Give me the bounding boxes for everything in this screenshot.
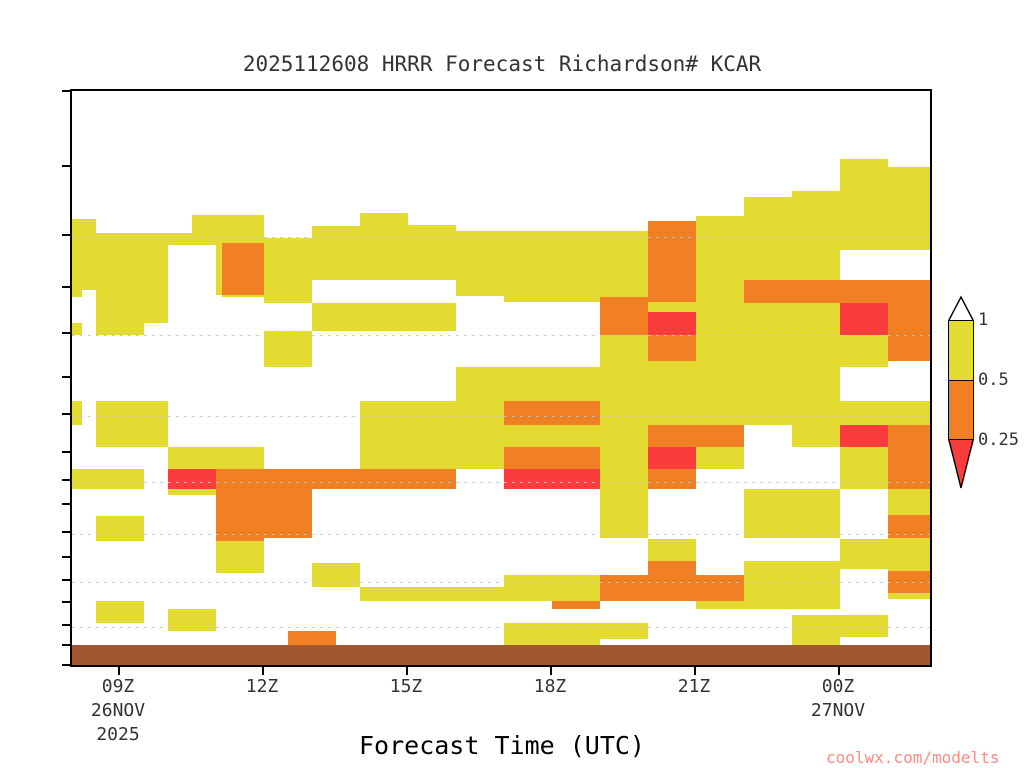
heatmap-cell (888, 447, 932, 469)
y-axis-tick-mark (62, 664, 71, 666)
heatmap-cell (744, 447, 792, 469)
heatmap-cell (168, 233, 192, 245)
heatmap-cell (312, 226, 360, 250)
heatmap-cell (648, 469, 696, 489)
y-axis-tick-mark (62, 556, 71, 558)
y-axis-tick-mark (62, 451, 71, 453)
heatmap-cell (360, 447, 408, 469)
y-axis-tick-mark (62, 413, 71, 415)
heatmap-cell (360, 213, 408, 250)
heatmap-cell (360, 280, 408, 303)
heatmap-cell (696, 335, 744, 367)
x-axis-tick-mark (406, 667, 408, 675)
y-axis-tick-mark (62, 624, 71, 626)
heatmap-cell (648, 221, 696, 250)
heatmap-cell (888, 425, 932, 447)
heatmap-cell (840, 615, 888, 637)
heatmap-cell (408, 303, 456, 331)
y-axis-tick-mark (62, 286, 71, 288)
heatmap-cell (744, 469, 792, 489)
heatmap-cell (456, 469, 504, 489)
heatmap-cell (264, 303, 312, 331)
heatmap-cell (648, 489, 696, 538)
heatmap-cell (600, 361, 648, 401)
heatmap-cell (72, 425, 96, 447)
heatmap-cell (888, 538, 932, 546)
heatmap-cell (600, 297, 648, 335)
heatmap-cell (264, 538, 312, 563)
heatmap-cell (696, 489, 744, 538)
heatmap-cell (552, 601, 600, 609)
gridline (72, 237, 930, 238)
heatmap-cell (456, 231, 504, 250)
heatmap-cell (264, 425, 312, 447)
heatmap-cell (504, 401, 552, 425)
heatmap-cell (792, 447, 840, 469)
heatmap-cell (222, 243, 264, 295)
x-axis-tick-label: 12Z (246, 676, 279, 697)
heatmap-cell (792, 335, 840, 367)
heatmap-cell (312, 469, 360, 489)
gridline (72, 627, 930, 628)
heatmap-cell (840, 367, 888, 401)
heatmap-cell (552, 469, 600, 489)
heatmap-cell (456, 587, 504, 601)
heatmap-cell (888, 250, 932, 280)
y-axis-tick-mark (62, 579, 71, 581)
heatmap-cell (840, 425, 888, 447)
colorbar: 1 0.5 0.25 (948, 320, 974, 440)
heatmap-cell (648, 361, 696, 401)
heatmap-cell (264, 295, 312, 303)
x-axis-tick-label: 09Z (102, 676, 135, 697)
heatmap-cell (72, 367, 96, 401)
heatmap-cell (792, 401, 840, 425)
heatmap-cell (168, 297, 264, 335)
heatmap-cell (96, 401, 168, 425)
heatmap-cell (840, 335, 888, 367)
heatmap-cell (888, 593, 932, 599)
heatmap-cell (744, 250, 792, 280)
x-axis-tick-mark (838, 667, 840, 675)
heatmap-cell (744, 425, 792, 447)
x-axis-tick-mark (550, 667, 552, 675)
heatmap-cell (408, 489, 456, 538)
heatmap-cell (648, 447, 696, 469)
heatmap-cell (552, 401, 600, 425)
y-axis-tick-mark (62, 531, 71, 533)
heatmap-cell (744, 489, 792, 515)
heatmap-cell (264, 331, 312, 367)
heatmap-cell (648, 302, 696, 312)
heatmap-cell (840, 447, 888, 469)
heatmap-cell (792, 303, 840, 335)
heatmap-cell (72, 447, 96, 469)
heatmap-cell (504, 331, 552, 367)
heatmap-cell (504, 489, 552, 538)
heatmap-cell (840, 191, 888, 250)
heatmap-cell (552, 367, 600, 401)
heatmap-cell (96, 335, 168, 367)
heatmap-cell (168, 401, 264, 425)
heatmap-cell (600, 469, 648, 489)
heatmap-cell (696, 280, 744, 303)
heatmap-cell (192, 215, 216, 245)
colorbar-seg-yellow (948, 320, 974, 380)
heatmap-cell (264, 469, 312, 489)
heatmap-cell (840, 250, 888, 280)
heatmap-cell (96, 245, 168, 297)
heatmap-cell (696, 250, 744, 280)
colorbar-top-arrow-outline (948, 297, 974, 320)
x-axis-tick-label: 18Z (534, 676, 567, 697)
heatmap-cell (360, 587, 408, 601)
heatmap-cell (792, 367, 840, 401)
heatmap-cell (264, 238, 312, 250)
heatmap-cell (504, 367, 552, 401)
heatmap-cell (792, 425, 840, 447)
heatmap-cell (552, 302, 600, 331)
heatmap-cell (96, 367, 144, 401)
heatmap-cell (552, 489, 600, 538)
heatmap-cell (456, 296, 504, 331)
heatmap-cell (360, 331, 408, 367)
heatmap-cell (792, 250, 840, 280)
heatmap-cell (840, 401, 888, 425)
heatmap-cell (264, 367, 312, 401)
heatmap-cell (744, 367, 792, 401)
y-axis-tick-mark (62, 90, 71, 92)
heatmap-cell (504, 575, 552, 601)
colorbar-bottom-arrow-outline (948, 440, 974, 489)
x-date-label-start: 26NOV (91, 700, 145, 721)
heatmap-cell (600, 335, 648, 361)
heatmap-cell (72, 335, 96, 367)
heatmap-cell (72, 244, 96, 290)
heatmap-cell (456, 331, 504, 367)
heatmap-cell (600, 489, 648, 538)
heatmap-cell (504, 302, 552, 331)
colorbar-label-05: 0.5 (978, 370, 1009, 390)
heatmap-cell (888, 489, 932, 515)
heatmap-cell (96, 233, 168, 245)
heatmap-cell (216, 541, 264, 563)
heatmap-cell (456, 367, 504, 401)
heatmap-cell (456, 425, 504, 447)
heatmap-cell (216, 489, 264, 538)
heatmap-cell (504, 231, 552, 250)
heatmap-cell (408, 280, 456, 303)
heatmap-cell (216, 245, 222, 295)
heatmap-cell (552, 447, 600, 469)
heatmap-cell (792, 575, 840, 609)
heatmap-cell (504, 425, 552, 447)
heatmap-cell (504, 469, 552, 489)
heatmap-cell (72, 219, 96, 244)
heatmap-cell (312, 280, 360, 303)
heatmap-cell (408, 331, 456, 367)
heatmap-cell (312, 563, 360, 587)
heatmap-cell (456, 401, 504, 425)
gridline (72, 482, 930, 483)
gridline (72, 416, 930, 417)
heatmap-cell (168, 335, 264, 367)
colorbar-label-025: 0.25 (978, 430, 1019, 450)
heatmap-cell (600, 250, 648, 302)
heatmap-cell (792, 615, 840, 637)
heatmap-cell (696, 447, 744, 469)
heatmap-cell (840, 489, 888, 515)
heatmap-cell (744, 561, 792, 575)
heatmap-cell (72, 297, 96, 323)
heatmap-cell (456, 250, 504, 296)
heatmap-cell (504, 447, 552, 469)
heatmap-cell (168, 425, 264, 447)
heatmap-cell (312, 425, 360, 447)
heatmap-cell (648, 250, 696, 302)
heatmap-cell (888, 280, 932, 303)
heatmap-cell (264, 447, 312, 469)
heatmap-cell (888, 469, 932, 489)
heatmap-cell (744, 401, 792, 425)
heatmap-cell (312, 303, 360, 331)
heatmap-cell (840, 303, 888, 335)
y-axis-tick-mark (62, 165, 71, 167)
heatmap-cell (888, 167, 932, 192)
heatmap-cell (408, 250, 456, 280)
heatmap-cell (696, 425, 744, 447)
heatmap-cell (696, 539, 744, 561)
heatmap-cell (264, 489, 312, 538)
heatmap-cell (408, 587, 456, 601)
heatmap-cell (216, 563, 264, 573)
heatmap-cell (744, 280, 792, 303)
heatmap-cell (504, 250, 552, 302)
heatmap-cell (360, 425, 408, 447)
heatmap-cell (408, 469, 456, 489)
x-axis-tick-mark (262, 667, 264, 675)
heatmap-cell (216, 447, 264, 469)
heatmap-cell (888, 335, 932, 361)
heatmap-cell (312, 538, 360, 563)
heatmap-cell (96, 425, 168, 447)
heatmap-cell (648, 539, 696, 561)
heatmap-cell (96, 447, 168, 469)
heatmap-cell (96, 516, 144, 541)
heatmap-cell (696, 469, 744, 489)
heatmap-cells (72, 91, 930, 665)
heatmap-cell (312, 447, 360, 469)
watermark: coolwx.com/modelts (826, 748, 999, 767)
heatmap-cell (696, 601, 744, 609)
heatmap-cell (600, 401, 648, 425)
heatmap-cell (648, 401, 696, 425)
heatmap-cell (888, 303, 932, 335)
heatmap-cell (456, 538, 504, 587)
heatmap-cell (408, 447, 456, 469)
heatmap-cell (360, 538, 408, 587)
heatmap-cell (600, 623, 648, 639)
y-axis-tick-mark (62, 601, 71, 603)
heatmap-cell (360, 250, 408, 280)
heatmap-cell (312, 367, 360, 401)
heatmap-cell (552, 575, 600, 601)
heatmap-cell (312, 250, 360, 280)
heatmap-cell (744, 575, 792, 609)
heatmap-cell (696, 303, 744, 335)
heatmap-cell (72, 469, 96, 489)
heatmap-cell (840, 539, 888, 569)
y-axis-tick-mark (62, 234, 71, 236)
heatmap-cell (216, 469, 264, 489)
heatmap-cell (360, 401, 408, 425)
heatmap-cell (96, 323, 144, 335)
heatmap-cell (840, 280, 888, 303)
heatmap-cell (312, 401, 360, 425)
heatmap-cell (744, 197, 792, 250)
heatmap-cell (312, 489, 360, 538)
heatmap-cell (456, 489, 504, 538)
heatmap-cell (96, 469, 144, 489)
heatmap-cell (72, 401, 82, 425)
gridline (72, 582, 930, 583)
heatmap-cell (840, 469, 888, 489)
heatmap-cell (72, 489, 96, 587)
x-date-label-next: 27NOV (811, 700, 865, 721)
heatmap-cell (168, 469, 216, 489)
heatmap-cell (696, 216, 744, 250)
heatmap-cell (648, 425, 696, 447)
heatmap-cell (744, 303, 792, 335)
heatmap-cell (312, 331, 360, 367)
heatmap-cell (264, 401, 312, 425)
y-axis-tick-mark (62, 376, 71, 378)
heatmap-cell (888, 401, 932, 425)
heatmap-cell (552, 231, 600, 250)
heatmap-cell (696, 575, 744, 601)
x-axis-tick-label: 15Z (390, 676, 423, 697)
heatmap-cell (696, 401, 744, 425)
heatmap-cell (168, 495, 216, 538)
ground-strip (72, 645, 930, 665)
plot-area (70, 89, 932, 667)
heatmap-cell (888, 546, 932, 571)
heatmap-cell (552, 250, 600, 302)
heatmap-cell (552, 425, 600, 447)
x-axis-tick-label: 00Z (822, 676, 855, 697)
y-axis-tick-mark (62, 479, 71, 481)
heatmap-cell (600, 575, 648, 601)
y-axis-tick-mark (62, 332, 71, 334)
chart-canvas: 2025112608 HRRR Forecast Richardson# KCA… (0, 0, 1024, 768)
colorbar-seg-orange (948, 380, 974, 440)
heatmap-cell (408, 538, 456, 587)
heatmap-cell (648, 312, 696, 335)
x-axis-tick-mark (694, 667, 696, 675)
heatmap-cell (792, 561, 840, 575)
heatmap-cell (216, 215, 264, 245)
y-axis-tick-mark (62, 644, 71, 646)
heatmap-cell (96, 601, 144, 623)
heatmap-cell (72, 323, 82, 335)
gridline (72, 534, 930, 535)
heatmap-cell (264, 563, 312, 573)
chart-title: 2025112608 HRRR Forecast Richardson# KCA… (0, 52, 1004, 76)
gridline (72, 335, 930, 336)
heatmap-cell (552, 331, 600, 367)
heatmap-cell (360, 303, 408, 331)
heatmap-cell (96, 297, 168, 323)
x-axis-tick-mark (118, 667, 120, 675)
heatmap-cell (744, 335, 792, 367)
heatmap-cell (360, 489, 408, 538)
heatmap-cell (792, 489, 840, 515)
heatmap-cell (168, 447, 216, 469)
heatmap-cell (360, 469, 408, 489)
heatmap-cell (408, 425, 456, 447)
y-axis-tick-mark (62, 503, 71, 505)
heatmap-cell (600, 231, 648, 250)
heatmap-cell (648, 335, 696, 361)
heatmap-cell (264, 250, 312, 295)
heatmap-cell (696, 367, 744, 401)
colorbar-label-1: 1 (978, 310, 988, 330)
heatmap-cell (792, 191, 840, 250)
x-axis-tick-label: 21Z (678, 676, 711, 697)
heatmap-cell (456, 447, 504, 469)
heatmap-cell (600, 425, 648, 447)
heatmap-cell (840, 159, 888, 191)
heatmap-cell (408, 401, 456, 425)
heatmap-cell (888, 192, 932, 250)
heatmap-cell (600, 447, 648, 469)
heatmap-cell (792, 469, 840, 489)
heatmap-cell (648, 575, 696, 601)
heatmap-cell (888, 361, 932, 401)
heatmap-cell (792, 280, 840, 303)
